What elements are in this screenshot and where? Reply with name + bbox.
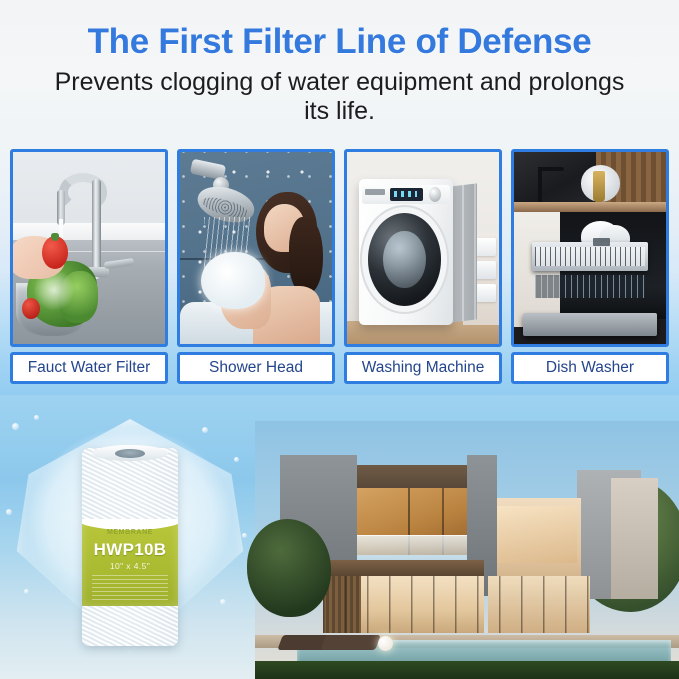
globe-lamp-icon (378, 636, 393, 651)
application-card-row: Fauct Water Filter (10, 149, 669, 387)
filter-cartridge: MEMBRANE HWP10B 10" x 4.5" (82, 448, 178, 646)
washer-display-icon (390, 188, 423, 201)
dish-rack-icon (532, 242, 648, 271)
page-title: The First Filter Line of Defense (0, 0, 679, 61)
lounge-chair (320, 635, 381, 650)
cartridge-label: MEMBRANE HWP10B 10" x 4.5" (82, 519, 178, 606)
cartridge-brand: MEMBRANE (82, 529, 178, 536)
tomato-icon (42, 236, 68, 269)
card-caption-faucet-water-filter: Fauct Water Filter (10, 352, 168, 384)
card-caption-dish-washer: Dish Washer (511, 352, 669, 384)
shower-scene-illustration (180, 152, 332, 344)
card-image-dish-washer (511, 149, 669, 347)
cartridge-model: HWP10B (82, 540, 178, 560)
card-image-faucet-water-filter (10, 149, 168, 347)
header-block: The First Filter Line of Defense Prevent… (0, 0, 679, 125)
card-image-washing-machine (344, 149, 502, 347)
application-card-washing-machine[interactable]: Washing Machine (344, 149, 502, 387)
card-caption-shower-head: Shower Head (177, 352, 335, 384)
house-illustration (255, 421, 679, 679)
faucet-scene-illustration (13, 152, 165, 344)
dishwasher-scene-illustration (514, 152, 666, 344)
product-infographic: The First Filter Line of Defense Prevent… (0, 0, 679, 679)
water-splash-graphic: MEMBRANE HWP10B 10" x 4.5" (6, 413, 254, 665)
card-image-shower-head (177, 149, 335, 347)
hero-section: MEMBRANE HWP10B 10" x 4.5" (0, 395, 679, 679)
foam-blob (201, 252, 265, 310)
page-subtitle: Prevents clogging of water equipment and… (40, 61, 640, 126)
washing-machine-scene-illustration (347, 152, 499, 344)
card-caption-washing-machine: Washing Machine (344, 352, 502, 384)
cartridge-core-hole (115, 449, 146, 458)
application-card-dish-washer[interactable]: Dish Washer (511, 149, 669, 387)
kitchen-tap-icon (538, 167, 542, 202)
washer-dial-icon (429, 187, 441, 202)
cartridge-size: 10" x 4.5" (82, 561, 178, 571)
application-card-faucet-water-filter[interactable]: Fauct Water Filter (10, 149, 168, 387)
application-card-shower-head[interactable]: Shower Head (177, 149, 335, 387)
